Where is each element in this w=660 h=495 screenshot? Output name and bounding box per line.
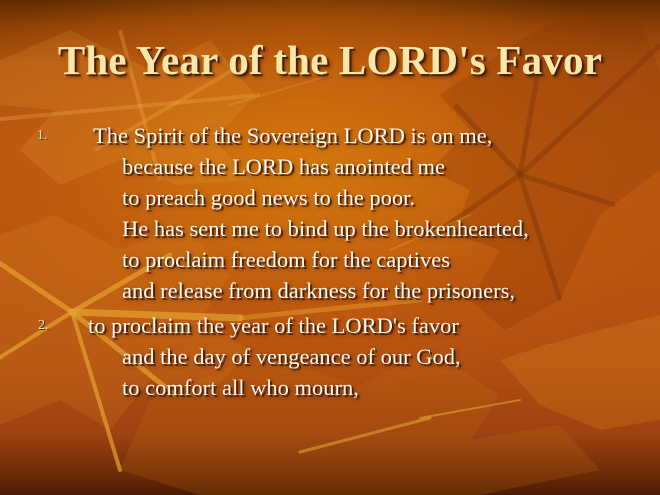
slide-title: The Year of the LORD's Favor: [0, 36, 660, 84]
body-line: to preach good news to the poor.: [0, 182, 660, 213]
body-line: and the day of vengeance of our God,: [0, 341, 660, 372]
list-item-1-lines: The Spirit of the Sovereign LORD is on m…: [0, 120, 660, 306]
list-item: 2. to proclaim the year of the LORD's fa…: [0, 310, 660, 403]
list-marker-2: 2.: [38, 319, 49, 333]
body-line: He has sent me to bind up the brokenhear…: [0, 213, 660, 244]
body-line: The Spirit of the Sovereign LORD is on m…: [0, 120, 660, 151]
list-item-2-lines: to proclaim the year of the LORD's favor…: [0, 310, 660, 403]
body-line: to comfort all who mourn,: [0, 372, 660, 403]
list-marker-1: 1.: [37, 129, 48, 143]
body-line: because the LORD has anointed me: [0, 151, 660, 182]
list-item: 1. The Spirit of the Sovereign LORD is o…: [0, 120, 660, 306]
body-line: to proclaim the year of the LORD's favor: [0, 310, 660, 341]
slide-body: 1. The Spirit of the Sovereign LORD is o…: [0, 120, 660, 403]
body-line: to proclaim freedom for the captives: [0, 244, 660, 275]
presentation-slide: The Year of the LORD's Favor 1. The Spir…: [0, 0, 660, 495]
body-line: and release from darkness for the prison…: [0, 275, 660, 306]
